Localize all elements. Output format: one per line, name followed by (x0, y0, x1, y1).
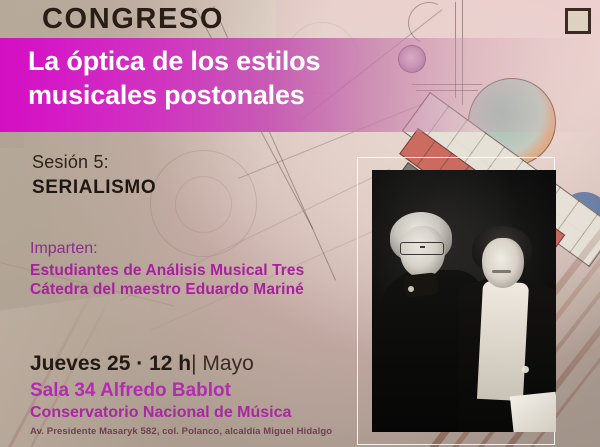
photo-person-right-button (522, 366, 529, 373)
photo-person-right-paper (510, 392, 556, 432)
poster-title-line-1: La óptica de los estilos (28, 44, 448, 78)
presenters-line-1: Estudiantes de Análisis Musical Tres (30, 262, 304, 280)
photo-person-right-mouth (492, 270, 511, 273)
event-poster: CONGRESO La óptica de los estilos musica… (0, 0, 600, 447)
presenters-line-2: Cátedra del maestro Eduardo Mariné (30, 281, 304, 299)
photo-person-left-pin (408, 286, 414, 292)
poster-title: La óptica de los estilos musicales posto… (28, 44, 448, 112)
date-venue-block: Jueves 25 · 12 h| Mayo Sala 34 Alfredo B… (30, 352, 332, 437)
venue-hall: Sala 34 Alfredo Bablot (30, 380, 332, 403)
photo-person-right-shirt (477, 281, 529, 401)
event-photo (372, 170, 556, 432)
event-date-divider: | (191, 352, 196, 375)
venue-institution: Conservatorio Nacional de Música (30, 403, 332, 423)
background-circle-outline (175, 176, 232, 233)
venue-address: Av. Presidente Masaryk 582, col. Polanco… (30, 426, 332, 437)
poster-eyebrow: CONGRESO (42, 3, 224, 36)
event-date-day: Jueves 25 · 12 h (30, 352, 191, 375)
session-name: SERIALISMO (32, 177, 156, 199)
square-outline-icon (565, 8, 591, 34)
photo-person-left-collar (403, 272, 439, 297)
session-label: Sesión 5: (32, 152, 109, 173)
photo-person-right-face (482, 238, 524, 288)
event-date: Jueves 25 · 12 h| Mayo (30, 352, 332, 377)
presenters-label: Imparten: (30, 240, 98, 258)
poster-title-line-2: musicales postonales (28, 78, 448, 112)
glasses-icon (400, 242, 444, 255)
event-date-month: Mayo (202, 352, 253, 375)
band-edge-strip (0, 132, 24, 148)
